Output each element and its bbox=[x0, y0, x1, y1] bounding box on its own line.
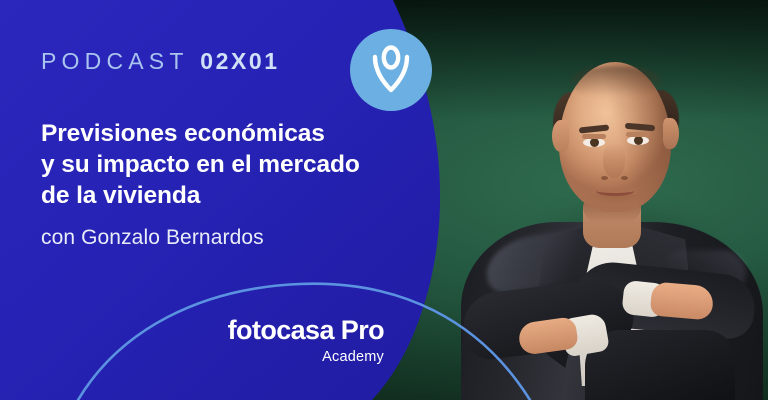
brand-logo: fotocasa Pro Academy bbox=[204, 315, 384, 367]
kicker-episode: 02X01 bbox=[200, 48, 280, 74]
guest-credit: con Gonzalo Bernardos bbox=[41, 226, 264, 250]
headline-line-3: de la vivienda bbox=[41, 180, 360, 211]
brand-logo-sub: Academy bbox=[204, 347, 384, 367]
brand-logo-name: fotocasa Pro bbox=[204, 315, 384, 345]
page-title: Previsiones económicas y su impacto en e… bbox=[41, 118, 360, 211]
headline-line-2: y su impacto en el mercado bbox=[41, 149, 360, 180]
fotocasa-badge bbox=[350, 29, 432, 111]
podcast-cover-banner: PODCAST 02X01 Previsiones económicas y s… bbox=[0, 0, 768, 400]
kicker: PODCAST 02X01 bbox=[41, 50, 280, 73]
headline-line-1: Previsiones económicas bbox=[41, 118, 360, 149]
kicker-word: PODCAST bbox=[41, 48, 189, 74]
fotocasa-pin-icon bbox=[370, 45, 412, 95]
